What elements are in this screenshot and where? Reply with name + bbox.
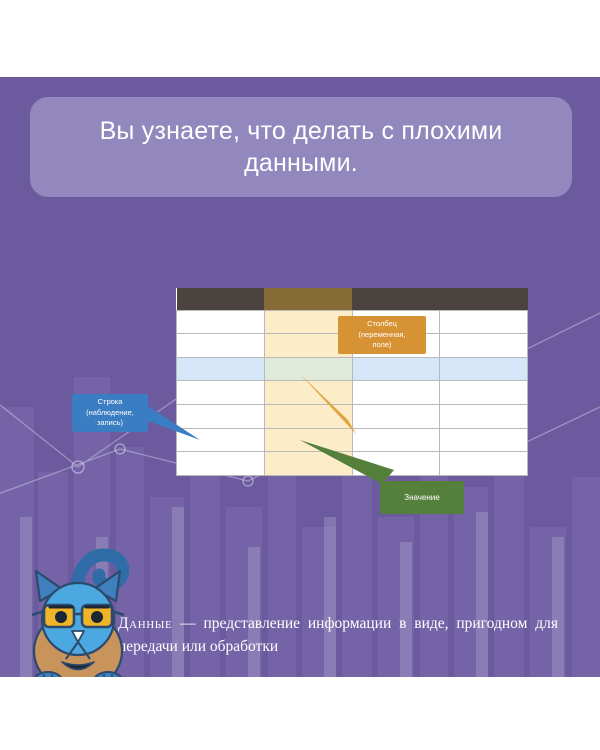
table-cell-column-highlight (264, 381, 352, 405)
table-cell (440, 405, 528, 429)
table-cell (177, 405, 265, 429)
table-cell (177, 381, 265, 405)
callout-row[interactable]: Строка (наблюдение, запись) (72, 394, 148, 432)
table-row (177, 405, 528, 429)
table-cell-row-highlight (440, 357, 528, 381)
table-cell (440, 428, 528, 452)
table-cell (352, 405, 440, 429)
table-cell (177, 310, 265, 334)
table-cell (177, 452, 265, 476)
table-cell (440, 334, 528, 358)
callout-column-line2: (переменная, (359, 330, 406, 341)
table-row (177, 452, 528, 476)
callout-column[interactable]: Столбец (переменная, поле) (338, 316, 426, 354)
table-cell (440, 381, 528, 405)
table-header-row (177, 288, 528, 310)
cat-mascot-icon (14, 547, 144, 677)
table-cell (352, 452, 440, 476)
caption-body: — представление информации в виде, приго… (118, 615, 558, 655)
table-header-cell-4 (440, 288, 528, 310)
table-cell (440, 452, 528, 476)
table-cell-column-highlight (264, 452, 352, 476)
table-row-highlighted (177, 357, 528, 381)
table-header-cell-3 (352, 288, 440, 310)
page-title: Вы узнаете, что делать с плохими данными… (30, 115, 572, 179)
table-cell-row-highlight (352, 357, 440, 381)
table-row (177, 381, 528, 405)
definition-caption: Данные — представление информации в виде… (118, 613, 558, 658)
callout-value-label: Значение (404, 492, 439, 504)
table-cell (352, 428, 440, 452)
table-row (177, 428, 528, 452)
callout-column-line3: поле) (359, 340, 406, 351)
table-cell (352, 381, 440, 405)
callout-value[interactable]: Значение (380, 481, 464, 514)
table-cell-column-highlight (264, 405, 352, 429)
table-header-cell-1 (177, 288, 265, 310)
table-cell (177, 428, 265, 452)
table-cell-row-highlight (177, 357, 265, 381)
callout-row-line1: Строка (86, 397, 134, 408)
callout-row-line2: (наблюдение, (86, 408, 134, 419)
slide-canvas: Вы узнаете, что делать с плохими данными… (0, 0, 600, 750)
table-cell-value-intersection (264, 357, 352, 381)
table-cell (440, 310, 528, 334)
slide-background: Вы узнаете, что делать с плохими данными… (0, 77, 600, 677)
callout-row-line3: запись) (86, 418, 134, 429)
table-cell (177, 334, 265, 358)
header-card: Вы узнаете, что делать с плохими данными… (30, 97, 572, 197)
callout-column-line1: Столбец (359, 319, 406, 330)
table-header-cell-2-highlighted (264, 288, 352, 310)
table-cell-column-highlight (264, 428, 352, 452)
